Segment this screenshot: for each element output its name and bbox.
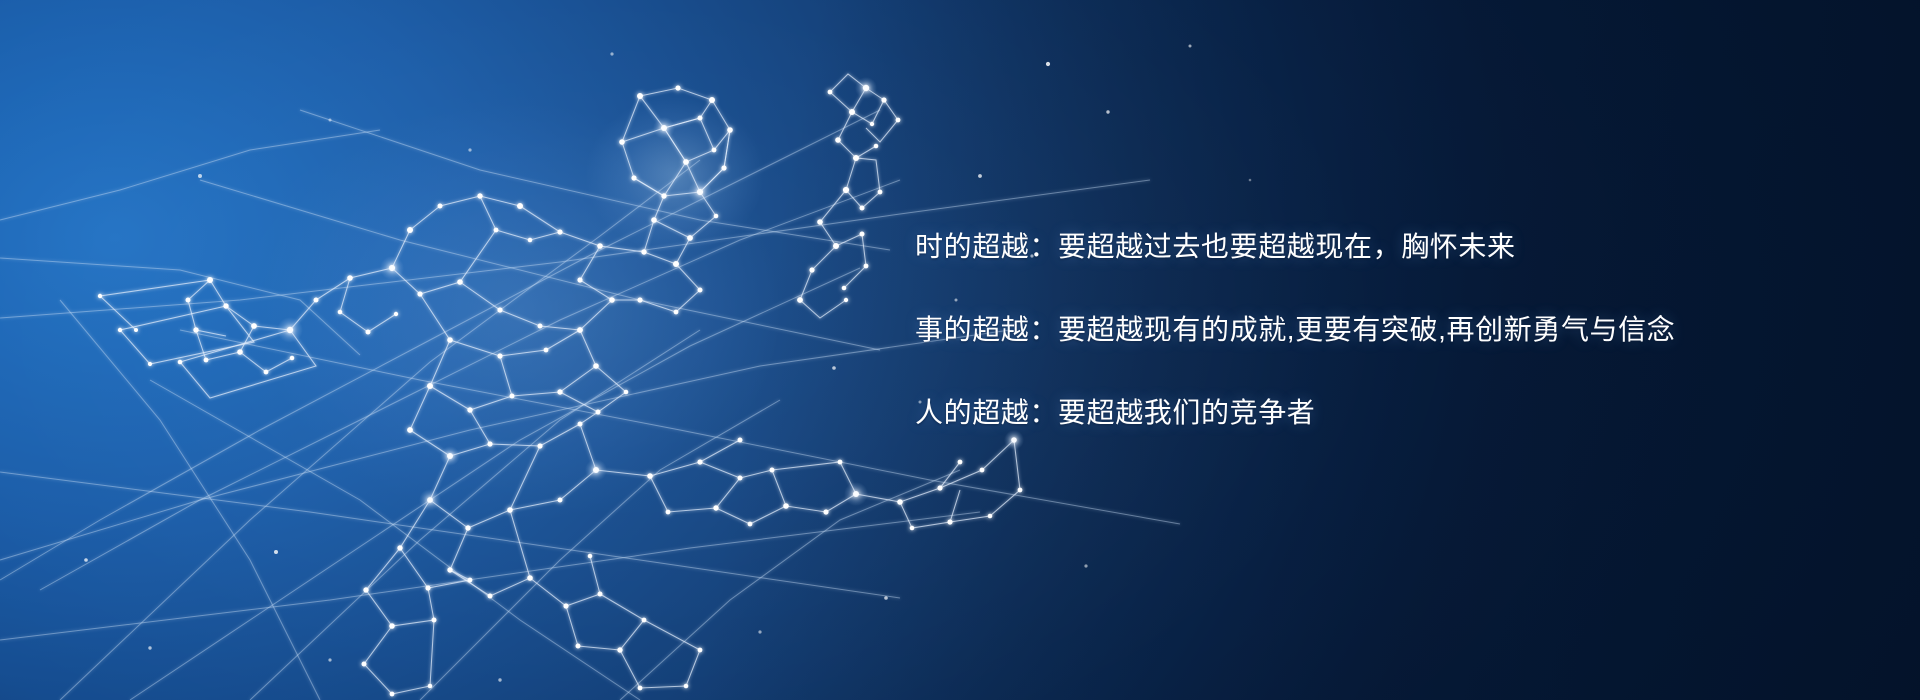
- slogan-line-matter: 事的超越：要超越现有的成就,更要有突破,再创新勇气与信念: [915, 315, 1795, 346]
- slogan-line-time: 时的超越：要超越过去也要超越现在，胸怀未来: [915, 232, 1795, 263]
- hero-banner: 时的超越：要超越过去也要超越现在，胸怀未来 事的超越：要超越现有的成就,更要有突…: [0, 0, 1920, 700]
- slogan-text-block: 时的超越：要超越过去也要超越现在，胸怀未来 事的超越：要超越现有的成就,更要有突…: [915, 232, 1795, 428]
- slogan-line-people: 人的超越：要超越我们的竞争者: [915, 398, 1795, 429]
